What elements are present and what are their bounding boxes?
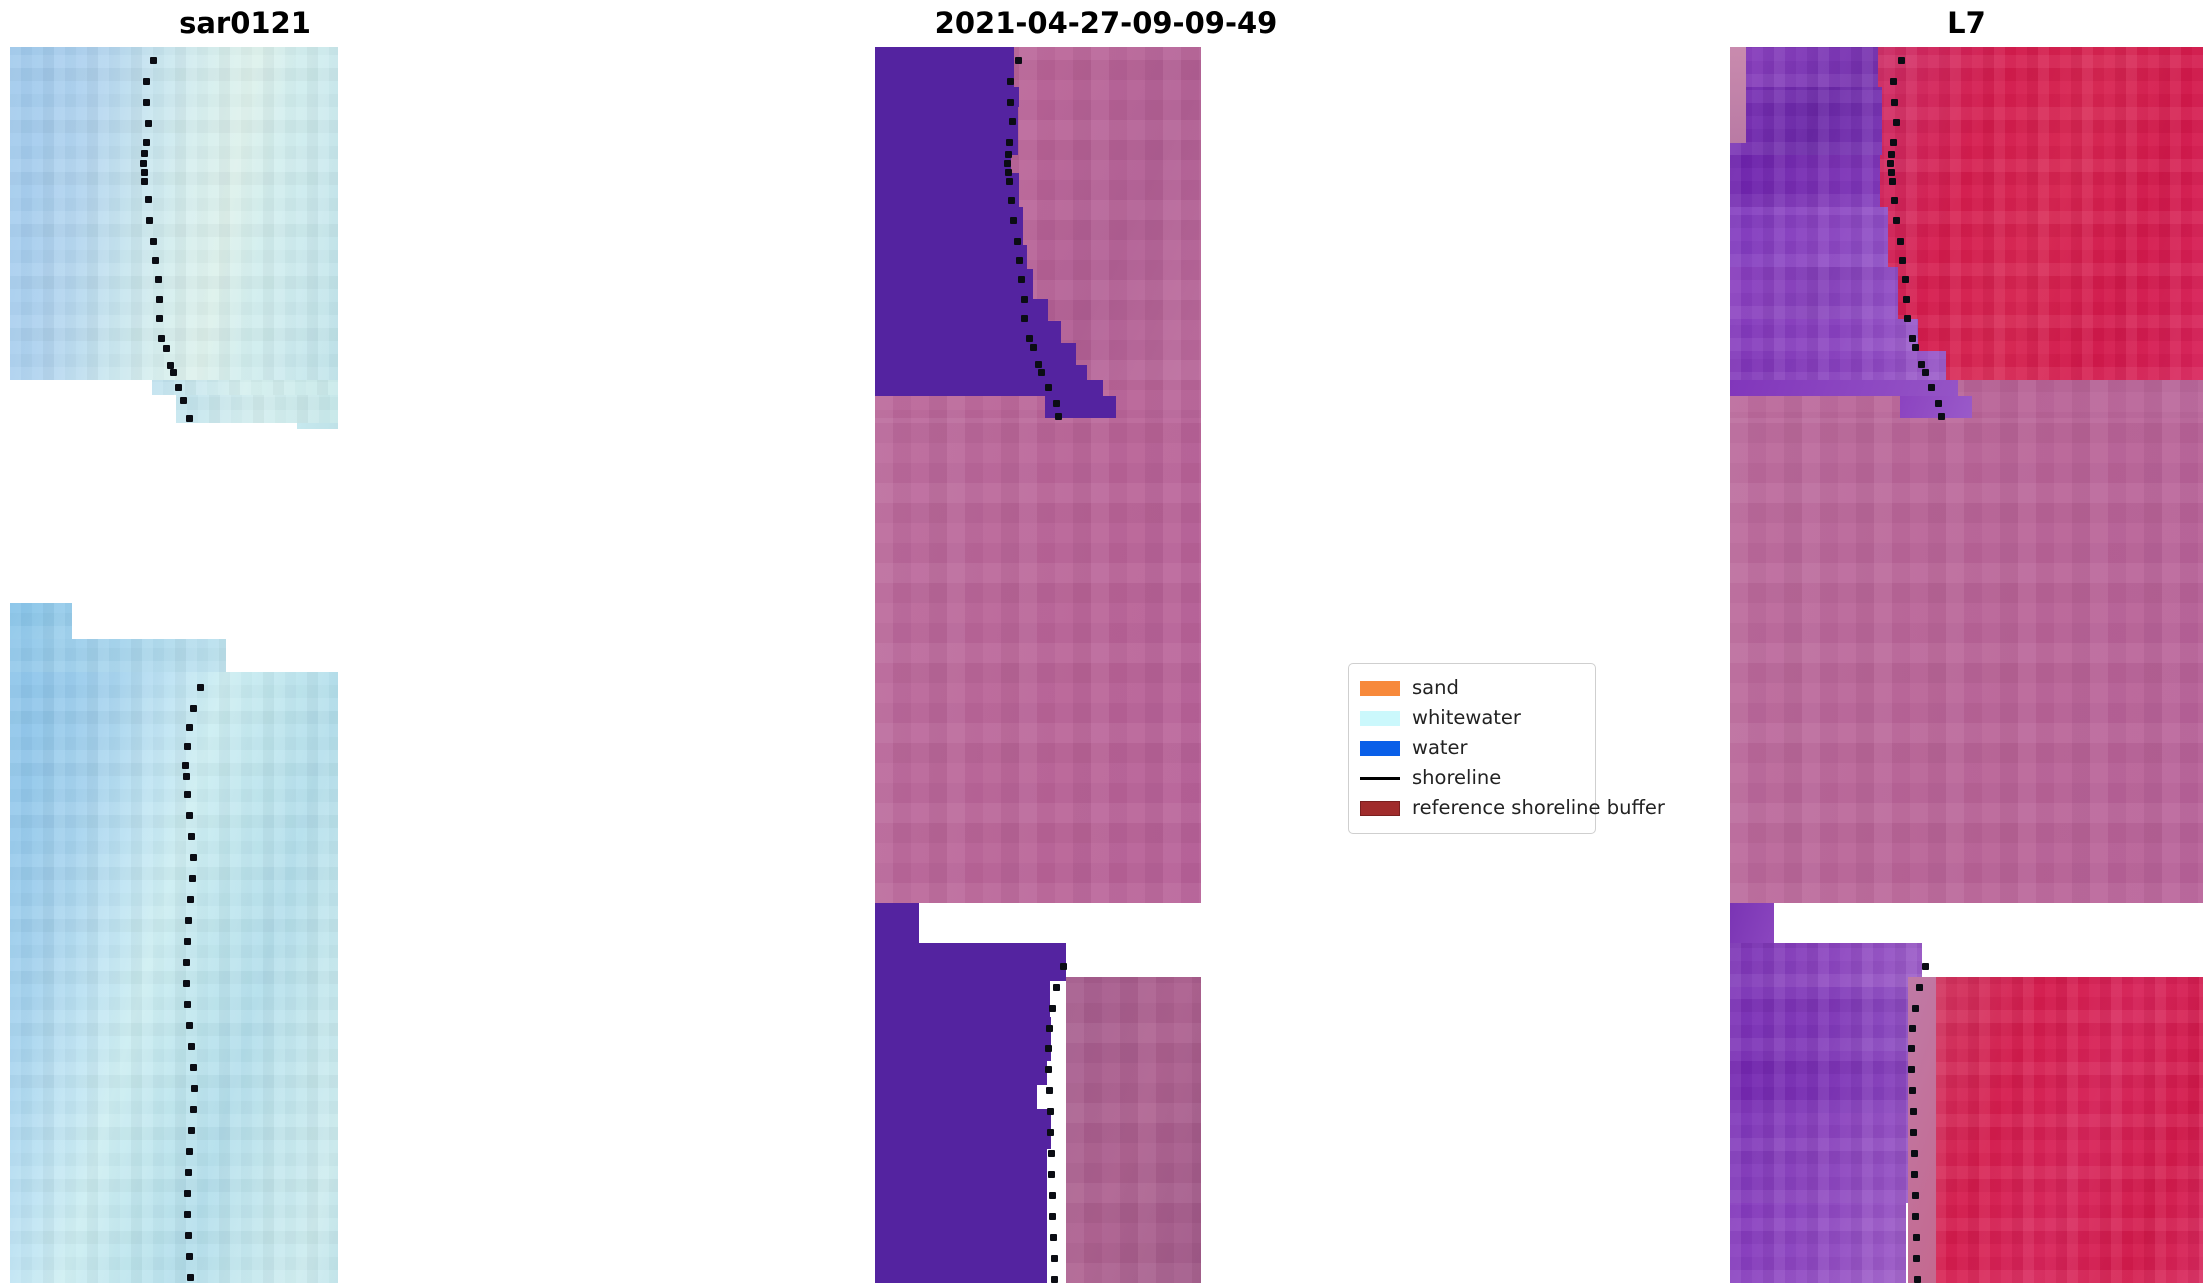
classified-water-upper-e — [875, 173, 1019, 207]
l7-water-lower-d — [1730, 1113, 1908, 1203]
legend-label-whitewater: whitewater — [1412, 708, 1521, 728]
classified-water-lower-a — [875, 943, 1066, 981]
classified-water-tail-a — [875, 380, 1103, 396]
sar-nub-texture — [10, 603, 72, 639]
l7-water-lower-c — [1730, 1051, 1912, 1113]
l7-water-ue-texture — [1730, 267, 1898, 319]
l7-water-ld-texture — [1730, 1113, 1908, 1203]
l7-buffer-main — [1730, 418, 2203, 903]
classified-water-upper-c — [875, 107, 1018, 155]
panel-title-optical: 2021-04-27-09-09-49 — [875, 6, 1337, 40]
classified-water-upper-j — [875, 321, 1061, 343]
sar-lower-block — [10, 672, 338, 1283]
l7-water-ua-texture — [1730, 47, 1878, 87]
l7-water-upper-a — [1730, 47, 1878, 87]
sand-swatch-icon — [1360, 681, 1400, 696]
classified-water-upper-f — [875, 207, 1023, 245]
l7-water-tail-b — [1900, 396, 1972, 418]
l7-water-ub-texture — [1730, 87, 1882, 155]
classified-water-upper-b — [875, 87, 1019, 107]
classified-buffer-lower-right — [1066, 977, 1201, 1283]
water-swatch-icon — [1360, 741, 1400, 756]
shoreline-line-icon — [1360, 777, 1400, 780]
legend-box[interactable]: sand whitewater water shoreline referenc… — [1348, 663, 1596, 834]
classified-water-upper-g — [875, 245, 1027, 269]
l7-water-upper-d — [1730, 207, 1888, 267]
legend-item-water[interactable]: water — [1360, 733, 1584, 763]
legend-label-shoreline: shoreline — [1412, 768, 1501, 788]
shoreline-dot — [1050, 1234, 1057, 1241]
classified-water-lower-e — [875, 1085, 1037, 1109]
legend-item-sand[interactable]: sand — [1360, 673, 1584, 703]
classified-water-upper-i — [875, 299, 1048, 321]
l7-transition-strip-lower — [1908, 977, 1936, 1283]
legend-item-shoreline[interactable]: shoreline — [1360, 763, 1584, 793]
l7-water-la-texture — [1730, 943, 1922, 987]
classified-water-tail-b — [1045, 396, 1116, 418]
sar-lower-band — [10, 639, 226, 674]
legend-label-sand: sand — [1412, 678, 1459, 698]
l7-water-lower-a — [1730, 943, 1922, 987]
l7-water-upper-f — [1730, 319, 1918, 351]
l7-water-lower-b — [1730, 987, 1916, 1051]
l7-water-lb-texture — [1730, 987, 1916, 1051]
l7-water-upper-c — [1730, 155, 1880, 207]
panel-l7-image[interactable] — [1730, 47, 2203, 1283]
classified-water-lower-d — [875, 1061, 1047, 1085]
legend-label-reference-buffer: reference shoreline buffer — [1412, 798, 1665, 818]
classified-water-lower-f — [875, 1109, 1051, 1149]
classified-buffer-main — [875, 418, 1201, 903]
shoreline-dot — [1049, 1192, 1056, 1199]
shoreline-dot — [1053, 984, 1060, 991]
l7-water-upper-e — [1730, 267, 1898, 319]
classified-buffer-main-texture — [875, 418, 1201, 903]
l7-left-edge-strip — [1730, 47, 1746, 143]
sar-step-ledge-2 — [176, 395, 338, 423]
sar-step-ledge-1 — [152, 380, 338, 395]
sar-lower-band-texture — [10, 639, 226, 674]
reference-buffer-swatch-icon — [1360, 801, 1400, 816]
shoreline-dot — [1048, 1150, 1055, 1157]
panel-title-l7: L7 — [1730, 6, 2203, 40]
l7-water-le-texture — [1730, 1203, 1906, 1283]
classified-water-lower-c — [875, 1017, 1051, 1061]
figure-canvas: sar0121 2021-04-27-09-09-49 L7 — [0, 0, 2203, 1283]
shoreline-dot — [1048, 1171, 1055, 1178]
panel-classified-image[interactable] — [875, 47, 1337, 1283]
shoreline-dot — [1049, 1005, 1056, 1012]
classified-water-upper-d — [875, 155, 1011, 173]
sar-upper-texture — [10, 47, 338, 380]
whitewater-swatch-icon — [1360, 711, 1400, 726]
l7-water-uc-texture — [1730, 155, 1880, 207]
classified-water-lower-nub — [875, 903, 919, 943]
legend-item-reference-buffer[interactable]: reference shoreline buffer — [1360, 793, 1584, 823]
classified-water-upper-h — [875, 269, 1033, 299]
sar-upper-block — [10, 47, 338, 380]
sar-step-ledge-3 — [297, 423, 338, 429]
legend-label-water: water — [1412, 738, 1468, 758]
l7-water-ud-texture — [1730, 207, 1888, 267]
sar-lower-texture — [10, 672, 338, 1283]
sar-ledge1-texture — [152, 380, 338, 395]
classified-water-upper-k — [875, 343, 1076, 365]
l7-water-uf-texture — [1730, 319, 1918, 351]
panel-sar-image[interactable] — [0, 47, 490, 1283]
shoreline-dot — [1046, 1087, 1053, 1094]
shoreline-dot — [1051, 1255, 1058, 1262]
l7-water-upper-b — [1730, 87, 1882, 155]
classified-water-upper-a — [875, 47, 1014, 87]
shoreline-dot — [1051, 1276, 1058, 1283]
sar-ledge2-texture — [176, 395, 338, 423]
shoreline-dot — [1049, 1213, 1056, 1220]
shoreline-dot — [1922, 963, 1929, 970]
classified-water-lower-b — [875, 981, 1050, 1017]
legend-item-whitewater[interactable]: whitewater — [1360, 703, 1584, 733]
l7-water-tail-a — [1730, 380, 1958, 396]
l7-water-lower-e — [1730, 1203, 1906, 1283]
l7-land-lower — [1935, 977, 2203, 1283]
l7-buffer-main-texture — [1730, 418, 2203, 903]
classified-water-lower-g — [875, 1149, 1047, 1283]
l7-water-lc-texture — [1730, 1051, 1912, 1113]
classified-lower-right-texture — [1066, 977, 1201, 1283]
panel-title-sar: sar0121 — [0, 6, 490, 40]
l7-land-lower-texture — [1935, 977, 2203, 1283]
sar-lower-nub — [10, 603, 72, 639]
l7-water-lower-nub — [1730, 903, 1774, 943]
